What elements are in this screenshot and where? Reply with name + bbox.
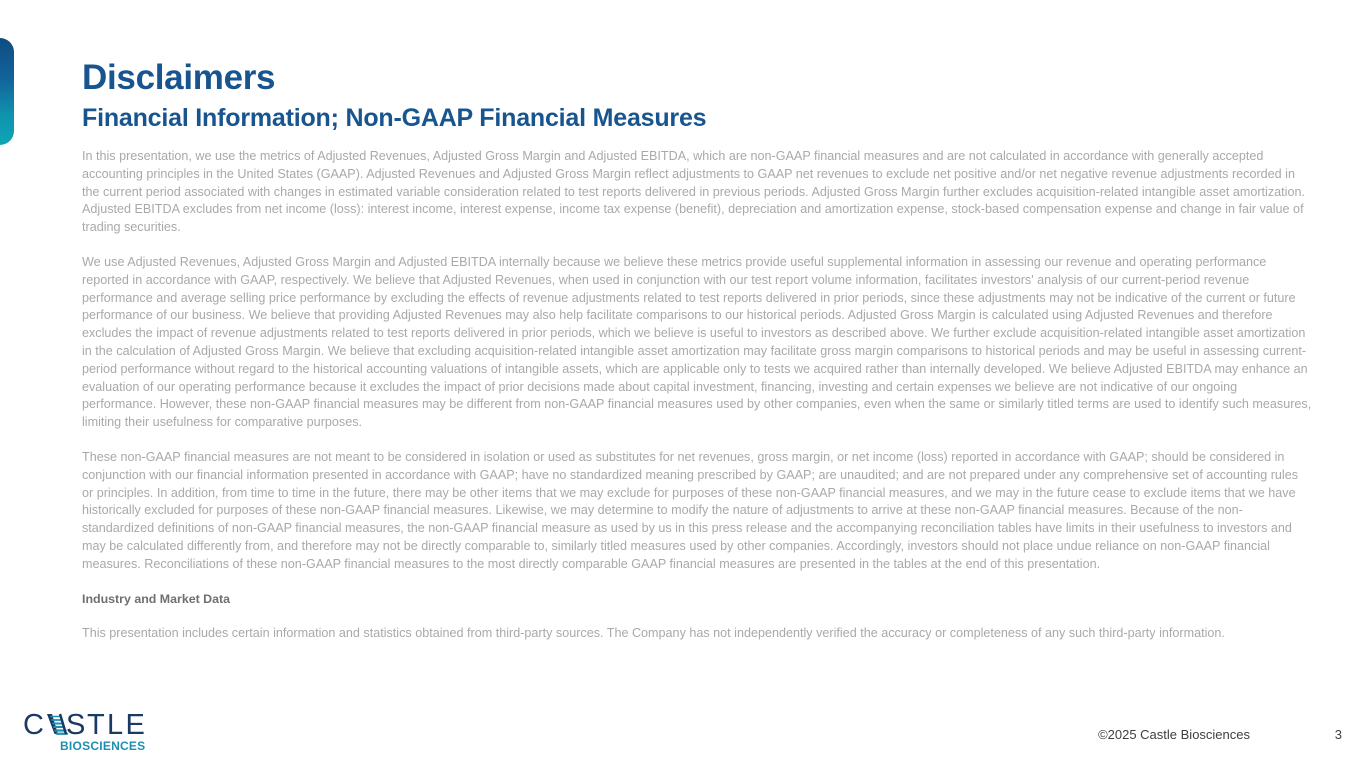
svg-text:S: S: [66, 709, 86, 741]
page-title: Disclaimers: [82, 58, 1302, 98]
svg-text:E: E: [126, 709, 146, 741]
paragraph-internal-use-rationale: We use Adjusted Revenues, Adjusted Gross…: [82, 254, 1312, 432]
logo-wordmark-text: C S T L E: [23, 709, 145, 741]
subheading-industry-and-market-data: Industry and Market Data: [82, 591, 1312, 609]
svg-text:C: C: [23, 709, 44, 741]
logo-tagline-text: BIOSCIENCES: [60, 739, 145, 753]
left-accent-bar: [0, 38, 14, 145]
paragraph-third-party-data: This presentation includes certain infor…: [82, 625, 1312, 643]
disclaimer-body: In this presentation, we use the metrics…: [82, 148, 1312, 643]
svg-text:L: L: [107, 709, 124, 741]
castle-biosciences-logo: C S T L E BIOS: [22, 708, 174, 754]
paragraph-non-gaap-definitions: In this presentation, we use the metrics…: [82, 148, 1312, 237]
page-subtitle: Financial Information; Non-GAAP Financia…: [82, 102, 1302, 135]
footer-copyright: ©2025 Castle Biosciences: [1098, 727, 1250, 742]
svg-text:T: T: [87, 709, 105, 741]
footer-page-number: 3: [1335, 727, 1342, 742]
paragraph-limitations: These non-GAAP financial measures are no…: [82, 449, 1312, 574]
title-block: Disclaimers Financial Information; Non-G…: [82, 58, 1302, 135]
slide-canvas: Disclaimers Financial Information; Non-G…: [0, 0, 1365, 768]
